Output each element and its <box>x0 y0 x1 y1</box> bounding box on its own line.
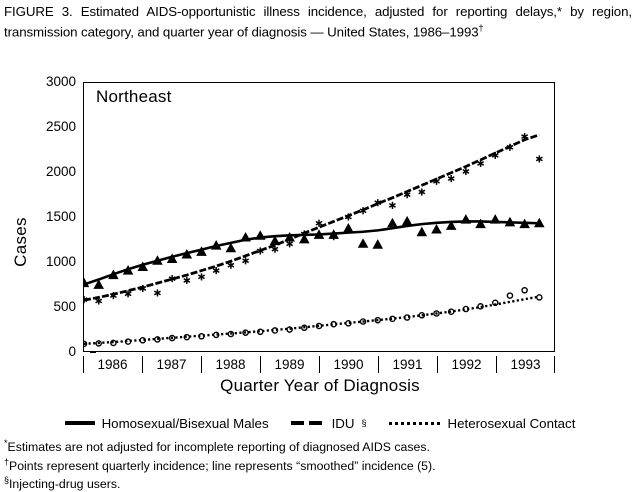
data-point-asterisk <box>198 273 204 280</box>
data-point-asterisk <box>463 168 469 175</box>
x-tick-label-1990: 1990 <box>319 356 378 373</box>
legend-footnote-marker: § <box>362 418 367 428</box>
data-point-asterisk <box>419 188 425 195</box>
solid-line-icon <box>65 421 95 425</box>
data-point-triangle <box>240 232 251 242</box>
data-point-triangle <box>417 227 428 237</box>
y-tick-label: 500 <box>18 300 76 314</box>
y-axis-ticks: 050010001500200025003000 <box>14 64 76 364</box>
footnote-2: †Points represent quarterly incidence; l… <box>4 455 634 474</box>
footnote-text: Estimates are not adjusted for incomplet… <box>8 440 430 454</box>
y-tick-label: 2000 <box>18 165 76 179</box>
y-tick-label: 1500 <box>18 210 76 224</box>
legend-label: Homosexual/Bisexual Males <box>102 416 269 431</box>
footnote-1: *Estimates are not adjusted for incomple… <box>4 436 634 455</box>
x-tick-label-1986: 1986 <box>83 356 142 373</box>
x-tick-label-1992: 1992 <box>437 356 496 373</box>
x-axis-title: Quarter Year of Diagnosis <box>0 376 640 396</box>
data-point-triangle <box>372 239 383 249</box>
x-tick-label-1989: 1989 <box>260 356 319 373</box>
legend-item-2: IDU§ <box>291 416 367 431</box>
series-idu <box>84 133 542 305</box>
legend-label: IDU <box>332 416 355 431</box>
data-point-asterisk <box>389 202 395 209</box>
data-point-triangle <box>358 238 369 248</box>
data-point-triangle <box>490 214 501 224</box>
x-tick-label-1987: 1987 <box>142 356 201 373</box>
data-point-triangle <box>475 219 486 229</box>
figure-title-line-1: FIGURE 3. Estimated AIDS-opportunistic i… <box>4 4 507 19</box>
y-tick-label: 0 <box>18 345 76 359</box>
y-tick-label: 2500 <box>18 120 76 134</box>
data-point-asterisk <box>477 160 483 167</box>
series-heterosexual-contact <box>84 288 542 347</box>
legend-item-3: Heterosexual Contact <box>389 416 576 431</box>
x-tick-label-1988: 1988 <box>201 356 260 373</box>
figure-title: FIGURE 3. Estimated AIDS-opportunistic i… <box>4 3 632 40</box>
data-point-triangle <box>461 214 472 224</box>
x-tick-label-1991: 1991 <box>378 356 437 373</box>
y-tick-label: 3000 <box>18 75 76 89</box>
data-point-triangle <box>343 223 354 233</box>
figure-title-line-3: States, 1986–1993 <box>369 24 479 39</box>
data-point-asterisk <box>448 175 454 182</box>
series-plot <box>84 83 554 351</box>
smoothed-line <box>84 297 539 344</box>
data-point-asterisk <box>154 289 160 296</box>
plot-frame: Northeast <box>83 82 555 352</box>
chart-legend: Homosexual/Bisexual MalesIDU§Heterosexua… <box>0 412 640 434</box>
smoothed-line <box>84 135 539 300</box>
y-tick-mark <box>90 352 96 353</box>
y-tick-label: 1000 <box>18 255 76 269</box>
footnote-text: Points represent quarterly incidence; li… <box>9 459 436 473</box>
data-point-triangle <box>387 218 398 228</box>
legend-label: Heterosexual Contact <box>448 416 576 431</box>
figure-title-dagger: † <box>479 23 484 33</box>
data-point-dot <box>507 293 512 298</box>
footnotes: *Estimates are not adjusted for incomple… <box>4 436 634 492</box>
chart-area: Cases 050010001500200025003000 Northeast… <box>0 64 640 394</box>
data-point-triangle <box>255 230 266 240</box>
x-tick-label-1993: 1993 <box>496 356 555 373</box>
data-point-asterisk <box>242 257 248 264</box>
data-point-triangle <box>431 224 442 234</box>
data-point-asterisk <box>536 155 542 162</box>
data-point-asterisk <box>184 277 190 284</box>
data-point-dot <box>537 295 542 300</box>
data-point-dot <box>522 288 527 293</box>
data-point-triangle <box>402 216 413 226</box>
footnote-3: §Injecting-drug users. <box>4 473 634 492</box>
dashed-line-icon <box>291 421 325 425</box>
dotted-line-icon <box>389 422 441 425</box>
series-homosexual-bisexual-males <box>84 214 545 289</box>
legend-item-1: Homosexual/Bisexual Males <box>65 416 269 431</box>
